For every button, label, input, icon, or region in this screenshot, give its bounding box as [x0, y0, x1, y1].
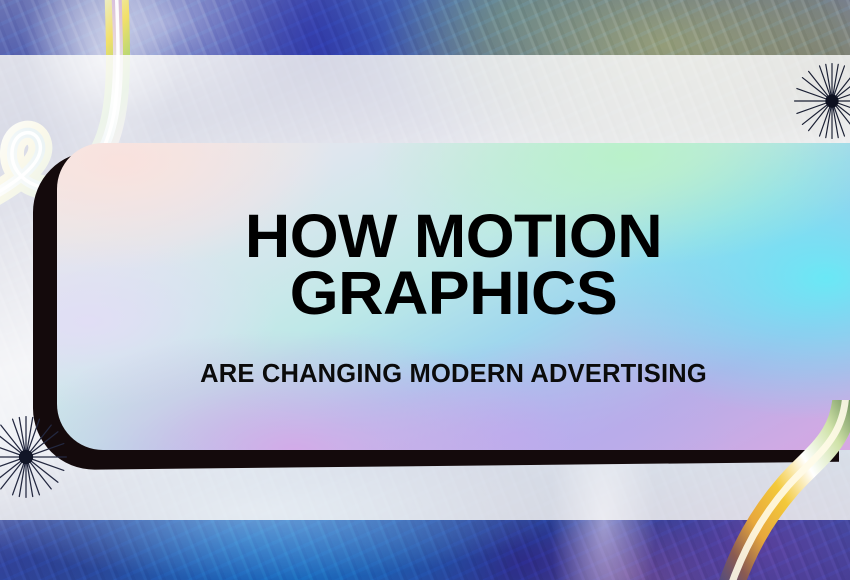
card-text-container: HOW MOTION GRAPHICS ARE CHANGING MODERN …	[57, 143, 850, 450]
page-title: HOW MOTION GRAPHICS	[245, 208, 662, 320]
headline-line-1: HOW MOTION	[245, 208, 662, 264]
headline-line-2: GRAPHICS	[245, 265, 662, 321]
headline-card: HOW MOTION GRAPHICS ARE CHANGING MODERN …	[57, 143, 850, 450]
subtitle: ARE CHANGING MODERN ADVERTISING	[200, 360, 707, 389]
poster-canvas: HOW MOTION GRAPHICS ARE CHANGING MODERN …	[0, 0, 850, 580]
